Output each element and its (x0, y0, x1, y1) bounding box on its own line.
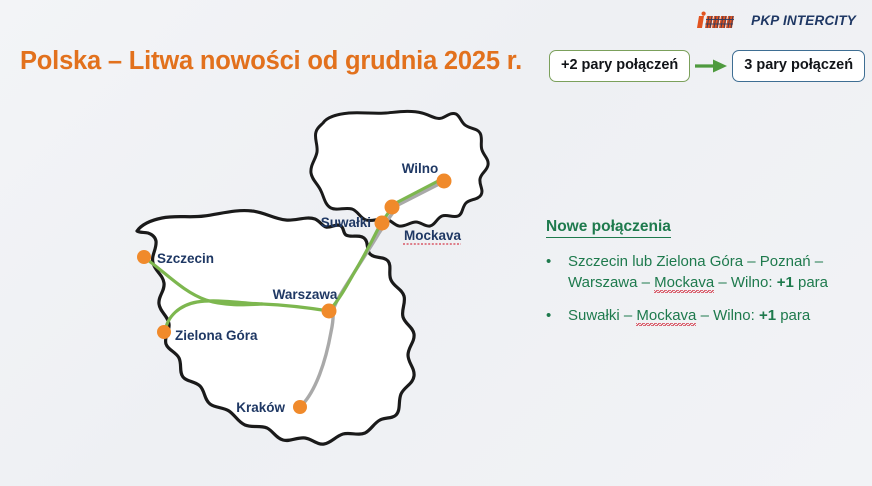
bullet-icon: • (546, 305, 568, 326)
list-item-text: Suwałki – Mockava – Wilno: +1 para (568, 305, 858, 326)
list-item-text: Szczecin lub Zielona Góra – Poznań – War… (568, 251, 858, 294)
route-middle: – Wilno: (714, 274, 777, 291)
city-node-wilno (437, 174, 452, 189)
city-label-szczecin: Szczecin (157, 251, 214, 266)
city-label-zielona-gora: Zielona Góra (175, 328, 258, 343)
route-suffix: para (794, 274, 828, 291)
bullet-icon: • (546, 251, 568, 272)
route-pair-count: +1 (759, 307, 776, 324)
new-connections-panel: Nowe połączenia • Szczecin lub Zielona G… (546, 218, 858, 337)
city-node-krakow (293, 400, 307, 414)
city-node-warszawa (322, 304, 337, 319)
city-label-wilno: Wilno (402, 161, 439, 176)
city-node-szczecin (137, 250, 151, 264)
route-prefix: Suwałki – (568, 307, 636, 324)
city-node-zielona-gora (157, 325, 171, 339)
city-node-mockava (385, 200, 400, 215)
route-pair-count: +1 (777, 274, 794, 291)
list-item: • Szczecin lub Zielona Góra – Poznań – W… (546, 251, 858, 294)
city-label-krakow: Kraków (236, 400, 285, 415)
route-spellword: Mockava (654, 274, 714, 293)
route-spellword: Mockava (636, 307, 696, 326)
city-label-suwalki: Suwałki (321, 215, 371, 230)
route-middle: – Wilno: (696, 307, 759, 324)
city-label-warszawa: Warszawa (273, 287, 338, 302)
route-suffix: para (776, 307, 810, 324)
city-node-suwalki (375, 216, 390, 231)
list-item: • Suwałki – Mockava – Wilno: +1 para (546, 305, 858, 326)
new-connections-heading: Nowe połączenia (546, 218, 671, 238)
lithuania-outline (311, 111, 488, 226)
city-label-mockava: Mockava (404, 228, 462, 243)
